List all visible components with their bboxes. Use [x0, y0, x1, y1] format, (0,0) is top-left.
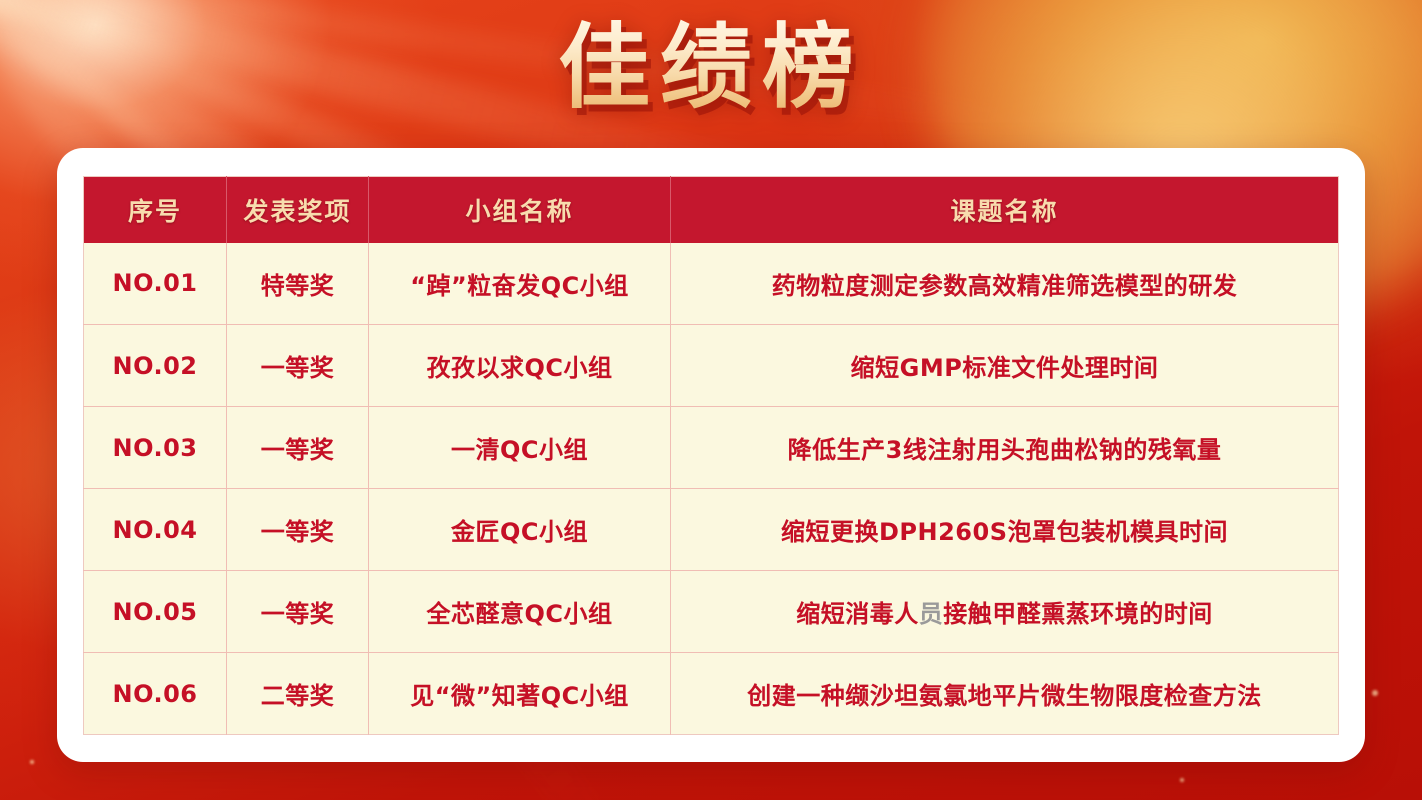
cell-prize: 二等奖 [227, 653, 369, 735]
cell-prize: 一等奖 [227, 407, 369, 489]
cell-team: 金匠QC小组 [369, 489, 671, 571]
page-title: 佳绩榜 [540, 16, 882, 119]
cell-topic: 缩短更换DPH260S泡罩包装机模具时间 [671, 489, 1339, 571]
cell-topic: 降低生产3线注射用头孢曲松钠的残氧量 [671, 407, 1339, 489]
cell-prize: 一等奖 [227, 325, 369, 407]
cell-prize: 特等奖 [227, 243, 369, 325]
cell-team: 全芯醛意QC小组 [369, 571, 671, 653]
table-row: NO.06二等奖见“微”知著QC小组创建一种缬沙坦氨氯地平片微生物限度检查方法 [84, 653, 1339, 735]
achievements-table: 序号 发表奖项 小组名称 课题名称 NO.01特等奖“踔”粒奋发QC小组药物粒度… [83, 176, 1339, 735]
table-row: NO.02一等奖孜孜以求QC小组缩短GMP标准文件处理时间 [84, 325, 1339, 407]
cell-prize: 一等奖 [227, 571, 369, 653]
faded-text: 员 [919, 600, 944, 628]
table-body: NO.01特等奖“踔”粒奋发QC小组药物粒度测定参数高效精准筛选模型的研发NO.… [84, 243, 1339, 735]
column-header-no: 序号 [84, 177, 227, 243]
page-title-container: 佳绩榜 [0, 16, 1422, 119]
cell-topic: 缩短消毒人员接触甲醛熏蒸环境的时间 [671, 571, 1339, 653]
cell-topic: 缩短GMP标准文件处理时间 [671, 325, 1339, 407]
cell-prize: 一等奖 [227, 489, 369, 571]
table-row: NO.01特等奖“踔”粒奋发QC小组药物粒度测定参数高效精准筛选模型的研发 [84, 243, 1339, 325]
table-row: NO.03一等奖一清QC小组降低生产3线注射用头孢曲松钠的残氧量 [84, 407, 1339, 489]
column-header-team: 小组名称 [369, 177, 671, 243]
text-segment: 接触甲醛熏蒸环境的时间 [943, 600, 1213, 628]
sparkle-icon [30, 760, 34, 764]
table-row: NO.04一等奖金匠QC小组缩短更换DPH260S泡罩包装机模具时间 [84, 489, 1339, 571]
cell-no: NO.06 [84, 653, 227, 735]
sparkle-icon [1180, 778, 1184, 782]
cell-no: NO.01 [84, 243, 227, 325]
cell-no: NO.02 [84, 325, 227, 407]
table-row: NO.05一等奖全芯醛意QC小组缩短消毒人员接触甲醛熏蒸环境的时间 [84, 571, 1339, 653]
results-card: 序号 发表奖项 小组名称 课题名称 NO.01特等奖“踔”粒奋发QC小组药物粒度… [57, 148, 1365, 762]
sparkle-icon [1372, 690, 1378, 696]
cell-no: NO.03 [84, 407, 227, 489]
table-header: 序号 发表奖项 小组名称 课题名称 [84, 177, 1339, 243]
cell-team: “踔”粒奋发QC小组 [369, 243, 671, 325]
cell-topic: 创建一种缬沙坦氨氯地平片微生物限度检查方法 [671, 653, 1339, 735]
column-header-prize: 发表奖项 [227, 177, 369, 243]
column-header-topic: 课题名称 [671, 177, 1339, 243]
cell-no: NO.04 [84, 489, 227, 571]
text-segment: 缩短消毒人 [796, 600, 919, 628]
cell-no: NO.05 [84, 571, 227, 653]
table-header-row: 序号 发表奖项 小组名称 课题名称 [84, 177, 1339, 243]
cell-team: 一清QC小组 [369, 407, 671, 489]
cell-team: 见“微”知著QC小组 [369, 653, 671, 735]
cell-topic: 药物粒度测定参数高效精准筛选模型的研发 [671, 243, 1339, 325]
cell-team: 孜孜以求QC小组 [369, 325, 671, 407]
